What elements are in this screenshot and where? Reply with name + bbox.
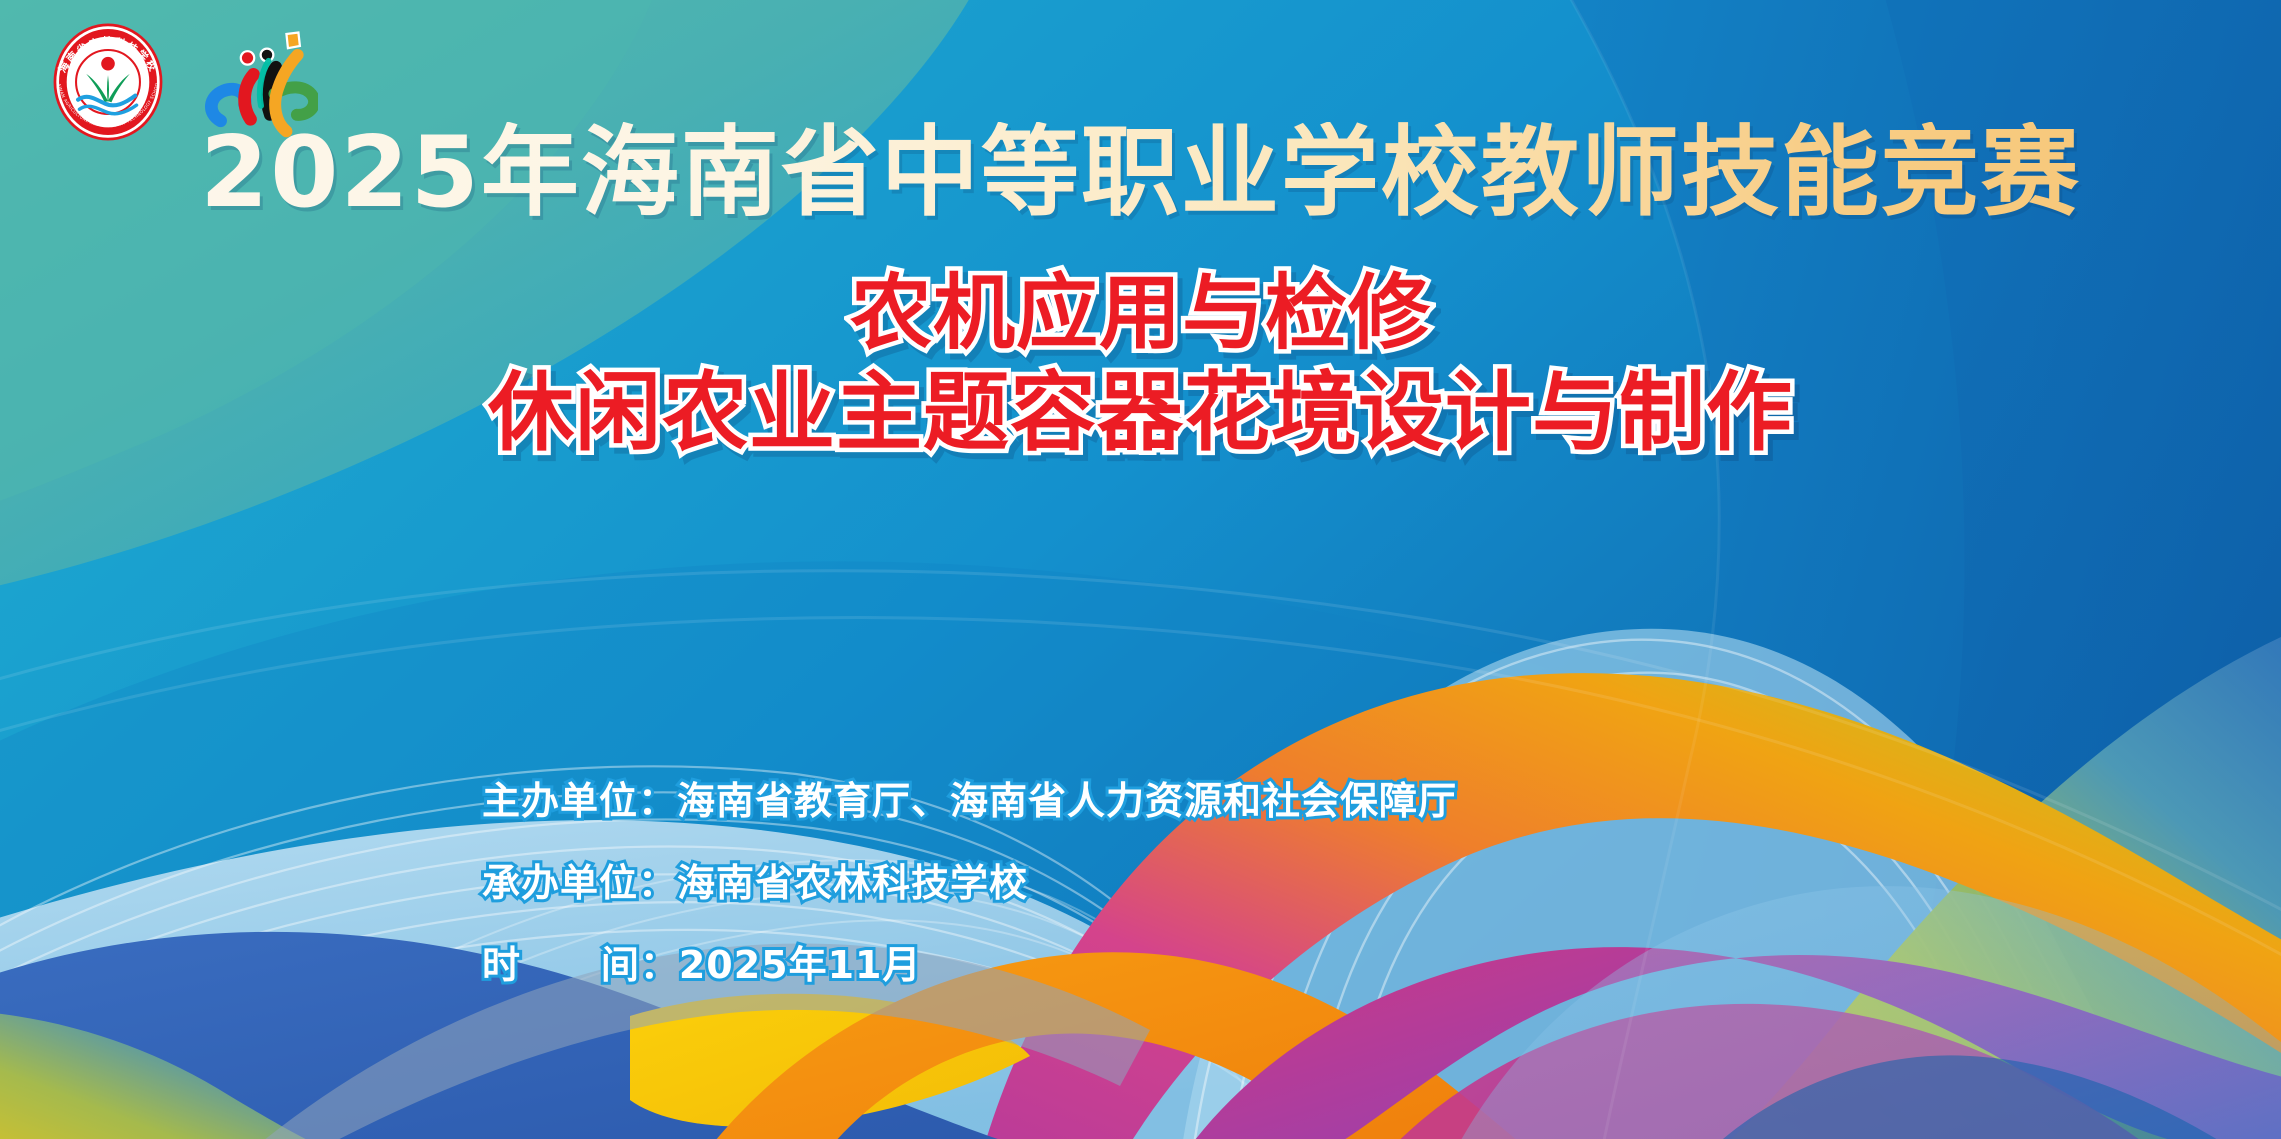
subtitle-group: 农机应用与检修 休闲农业主题容器花境设计与制作 — [0, 268, 2281, 464]
main-title: 2025年海南省中等职业学校教师技能竞赛 — [0, 122, 2281, 225]
host-line: 承办单位：海南省农林科技学校 — [482, 864, 1457, 902]
subtitle-line-2: 休闲农业主题容器花境设计与制作 — [0, 364, 2281, 464]
date-value: 2025年11月 — [679, 943, 922, 987]
organizer-line: 主办单位：海南省教育厅、海南省人力资源和社会保障厅 — [482, 782, 1457, 820]
competition-banner: 海南省农林科技学校 HAINAN AGRICULTURE AND FORESTR… — [0, 0, 2281, 1139]
info-block: 主办单位：海南省教育厅、海南省人力资源和社会保障厅 承办单位：海南省农林科技学校… — [482, 782, 1457, 984]
subtitle-line-1: 农机应用与检修 — [0, 268, 2281, 360]
date-label-suffix: 间： — [601, 943, 679, 987]
date-label-prefix: 时 — [482, 943, 521, 987]
date-line: 时间：2025年11月 — [482, 946, 1457, 984]
